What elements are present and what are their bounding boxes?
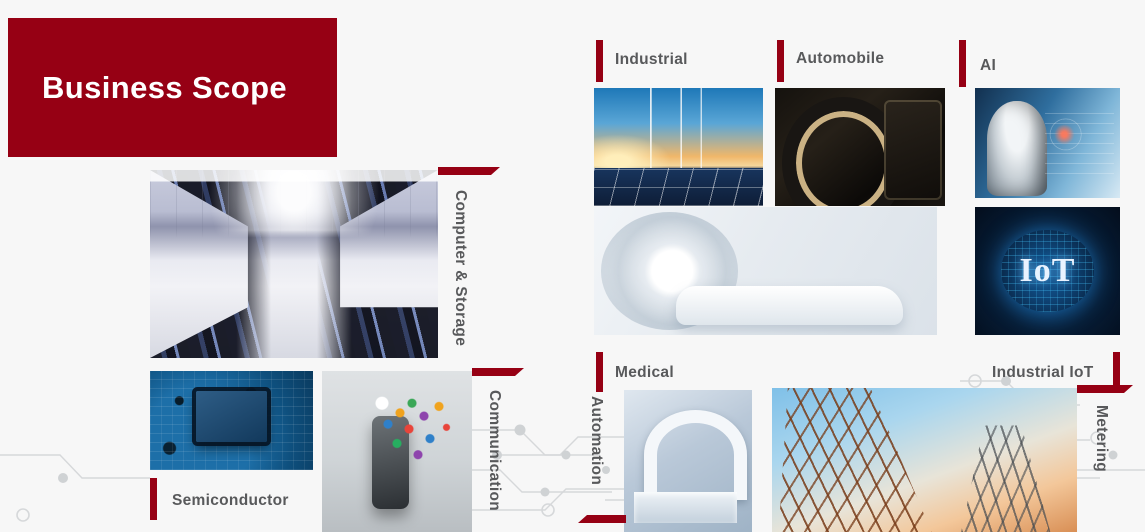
photo-medical — [594, 207, 937, 335]
accent-tick-semiconductor — [150, 478, 157, 520]
iot-globe-image — [975, 207, 1120, 335]
page-title: Business Scope — [8, 70, 287, 106]
accent-tick-ai — [959, 40, 966, 87]
segment-label-semiconductor: Semiconductor — [172, 492, 289, 510]
photo-industrial-iot — [975, 207, 1120, 335]
segment-label-metering: Metering — [1092, 405, 1110, 472]
robot-ai-image — [975, 88, 1120, 198]
segment-label-industrial-iot: Industrial IoT — [992, 364, 1094, 382]
segment-label-industrial: Industrial — [615, 51, 688, 69]
power-pylons-image — [772, 388, 1077, 532]
circuit-board-image — [150, 371, 313, 470]
accent-bar-communication — [472, 368, 524, 376]
photo-communication — [322, 371, 472, 532]
accent-bar-automation — [578, 515, 626, 523]
segment-label-automobile: Automobile — [796, 50, 884, 68]
segment-label-computer-storage: Computer & Storage — [451, 190, 469, 346]
photo-semiconductor — [150, 371, 313, 470]
accent-bar-metering — [1077, 385, 1133, 393]
accent-tick-medical — [596, 352, 603, 392]
photo-industrial — [594, 88, 763, 206]
accent-bar-computer-storage — [438, 167, 500, 175]
accent-tick-automobile — [777, 40, 784, 82]
segment-label-automation: Automation — [587, 396, 605, 485]
photo-metering — [772, 388, 1077, 532]
segment-label-communication: Communication — [485, 390, 503, 511]
smartphone-apps-image — [322, 371, 472, 532]
data-center-image — [150, 170, 438, 358]
photo-computer-storage — [150, 170, 438, 358]
business-scope-banner: Business Scope — [8, 18, 337, 157]
wind-solar-image — [594, 88, 763, 206]
robot-arm-image — [624, 390, 752, 532]
photo-automation — [624, 390, 752, 532]
segment-label-medical: Medical — [615, 364, 674, 382]
segment-label-ai: AI — [980, 57, 996, 75]
photo-automobile — [775, 88, 945, 206]
business-scope-infographic: Business Scope Computer & Storage Semico… — [0, 0, 1145, 532]
ct-scanner-image — [594, 207, 937, 335]
photo-ai — [975, 88, 1120, 198]
accent-tick-industrial — [596, 40, 603, 82]
car-interior-image — [775, 88, 945, 206]
